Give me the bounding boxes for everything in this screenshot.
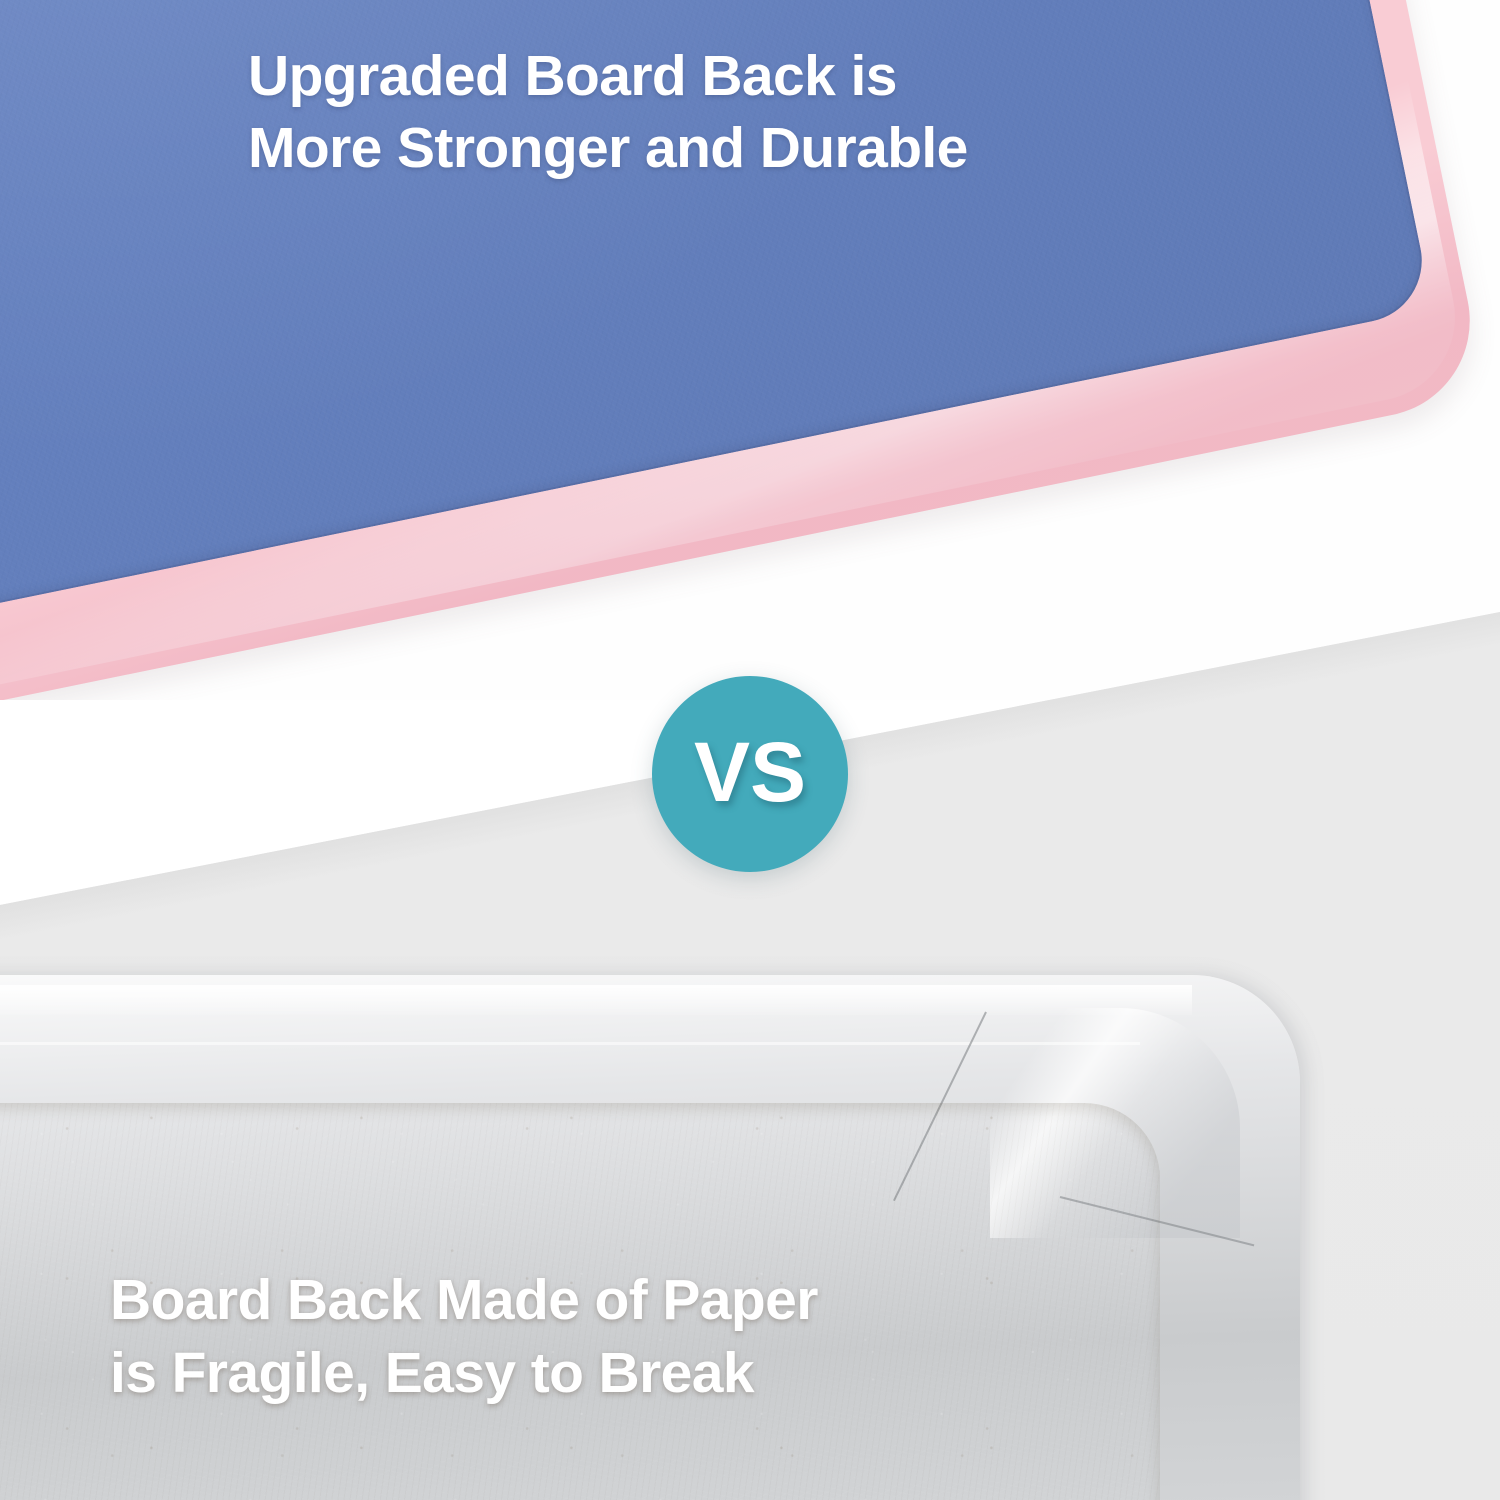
bottom-panel-headline: Board Back Made of Paper is Fragile, Eas… [110, 1264, 1090, 1410]
top-panel-headline: Upgraded Board Back is More Stronger and… [248, 40, 1148, 185]
comparison-graphic: Upgraded Board Back is More Stronger and… [0, 0, 1500, 1500]
vs-badge: VS [652, 676, 848, 872]
top-panel-upgraded-board: Upgraded Board Back is More Stronger and… [0, 0, 1500, 700]
vs-badge-label: VS [694, 730, 806, 814]
